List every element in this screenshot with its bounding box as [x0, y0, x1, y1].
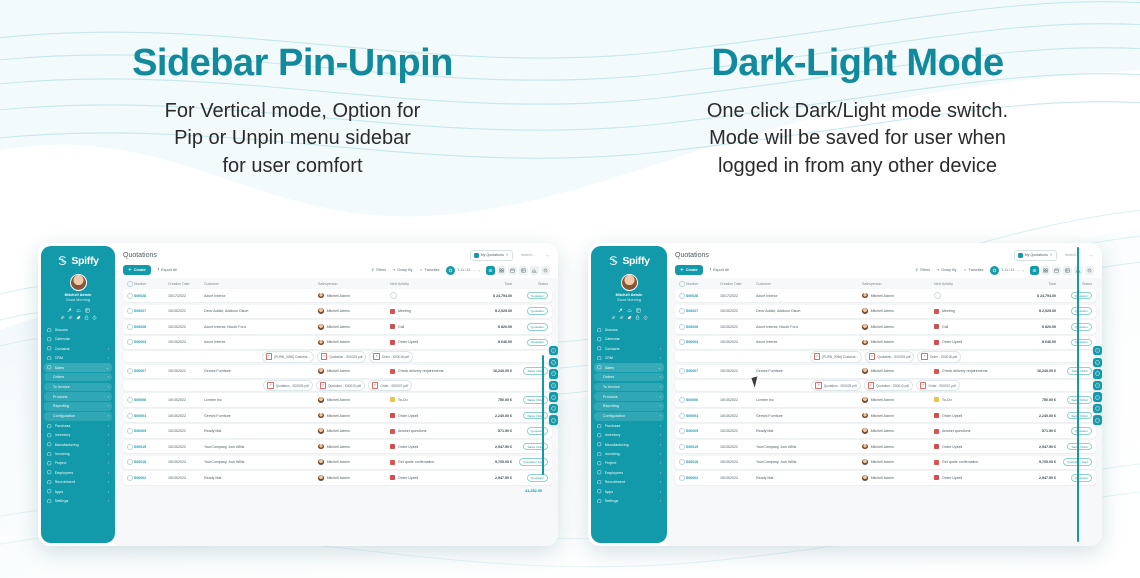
salesperson-name: Mitchell Admin — [871, 294, 894, 298]
checkbox-ring — [679, 308, 685, 314]
chevron-right-icon: › — [660, 490, 661, 494]
link-icon[interactable] — [60, 315, 65, 320]
chevron-right-icon: › — [660, 433, 661, 437]
sidebar-item-calendar[interactable]: Calendar — [44, 335, 112, 344]
calendar-view-icon[interactable] — [508, 266, 517, 275]
confirm-icon — [934, 460, 939, 465]
next-page-icon[interactable]: › — [478, 268, 481, 273]
sidebar-item-orders[interactable]: Orders› — [44, 373, 112, 382]
search-facet-my-quotations[interactable]: My Quotations ✕ — [470, 250, 513, 261]
cell-next-activity[interactable]: Check delivery requirements — [934, 369, 1012, 374]
prev-page-icon[interactable]: ‹ — [1016, 268, 1019, 273]
expand-rail-icon[interactable] — [549, 369, 558, 378]
sidebar-item-project[interactable]: Project› — [594, 459, 664, 468]
activity-label: Answer questions — [398, 429, 426, 433]
favorites-button[interactable]: ☆Favorites — [961, 268, 985, 272]
table-header-left: NumberCreation DateCustomerSalespersonNe… — [123, 278, 552, 289]
checkbox-ring — [679, 428, 685, 434]
cell-next-activity[interactable]: Order Upsell — [390, 413, 468, 418]
sidebar-item-discuss[interactable]: Discuss — [44, 325, 112, 334]
link-alt-icon[interactable] — [68, 315, 73, 320]
expand-rail-icon[interactable] — [1093, 369, 1102, 378]
cell-creation-date: 15/15/2022 — [168, 476, 204, 480]
close-icon[interactable]: ✕ — [1050, 253, 1053, 257]
cell-next-activity[interactable]: Order Upsell — [934, 444, 1012, 449]
table-row[interactable]: S0000315/15/2022Azure InteriorMitchell A… — [123, 336, 552, 349]
pdf-icon: P — [868, 382, 874, 389]
chevron-right-icon: › — [660, 471, 661, 475]
avatar — [318, 428, 324, 434]
cell-salesperson: Mitchell Admin — [862, 368, 934, 374]
table-row[interactable]: S0000515/15/2022Ready MatMitchell AdminA… — [123, 424, 552, 437]
sidebar-item-invoicing[interactable]: Invoicing› — [594, 449, 664, 458]
power-icon[interactable] — [643, 315, 648, 320]
cell-salesperson: Mitchell Admin — [318, 293, 390, 299]
export-all-button[interactable]: ⭳ Export All — [155, 267, 180, 273]
right-rail-right-panel — [1093, 346, 1102, 425]
attachment-label: Order - S00007.pdf — [380, 384, 407, 388]
pivot-view-icon[interactable] — [1063, 266, 1072, 275]
activity-label: Call — [942, 325, 948, 329]
avatar[interactable] — [70, 274, 87, 291]
chart-rail-icon[interactable] — [1093, 415, 1102, 424]
cell-total: 2,947.50 € — [468, 445, 512, 449]
table-row[interactable]: S0001815/15/2022YourCompany, Joel Willis… — [675, 456, 1096, 469]
sidebar-item-configuration[interactable]: Configuration› — [44, 412, 112, 421]
table-row[interactable]: S0000515/15/2022Ready MatMitchell AdminA… — [675, 424, 1096, 437]
sidebar-item-employees[interactable]: Employees› — [44, 468, 112, 477]
sidebar-item-to-invoice[interactable]: To Invoice› — [594, 383, 664, 392]
activity-label: Check delivery requirements — [942, 369, 988, 373]
cell-creation-date: 15/15/2022 — [168, 340, 204, 344]
column-header-total[interactable]: Total — [468, 282, 512, 286]
table-row[interactable]: S0000615/15/2022Lumber IncMitchell Admin… — [675, 393, 1096, 406]
grid-icon[interactable] — [636, 308, 641, 313]
salesperson-name: Mitchell Admin — [327, 414, 350, 418]
attachment-chip[interactable]: PQuotation - S00025.pdf — [811, 380, 860, 391]
create-button[interactable]: ＋ Create — [675, 265, 703, 275]
table-row[interactable]: S0000715/15/2022Gemini FurnitureMitchell… — [123, 365, 552, 378]
list-view-icon[interactable] — [1030, 266, 1039, 275]
cell-status: Quotation — [512, 323, 548, 331]
calendar-rail-icon[interactable] — [549, 392, 558, 401]
wrench-icon[interactable] — [67, 308, 72, 313]
row-checkbox[interactable] — [679, 459, 686, 465]
graph-view-icon[interactable] — [530, 266, 539, 275]
sidebar-item-contacts[interactable]: Contacts› — [594, 344, 664, 353]
table-row[interactable]: S0000715/15/2022Gemini FurnitureMitchell… — [675, 365, 1096, 378]
chevron-right-icon: › — [108, 414, 109, 418]
cell-next-activity[interactable]: To-Do — [390, 397, 468, 402]
table-row[interactable]: S0002615/15/2022Azure Interior, Nicole F… — [675, 320, 1096, 333]
search-area[interactable]: My Quotations ✕ Search... — [470, 250, 550, 261]
leaf-icon[interactable] — [627, 315, 632, 320]
column-header-status[interactable]: Status — [1056, 282, 1092, 286]
upsell-icon — [390, 413, 395, 418]
pdf-icon: P — [815, 382, 821, 389]
attachment-chip[interactable]: PQuotation - S00010.pdf — [864, 380, 913, 391]
cell-number: S00005 — [686, 429, 720, 433]
attachment-chip[interactable]: POrder - S00007.pdf — [368, 380, 412, 391]
cell-next-activity[interactable] — [390, 292, 468, 299]
list-rail-icon[interactable] — [549, 404, 558, 413]
list-rail-icon[interactable] — [1093, 404, 1102, 413]
sidebar-item-products[interactable]: Products› — [594, 392, 664, 401]
sidebar-item-settings[interactable]: Settings› — [594, 496, 664, 505]
row-checkbox[interactable] — [679, 308, 686, 314]
home-rail-icon[interactable] — [549, 358, 558, 367]
cell-number: S00026 — [134, 325, 168, 329]
sidebar-item-recruitment[interactable]: Recruitment› — [44, 477, 112, 486]
row-checkbox[interactable] — [127, 293, 134, 299]
cell-creation-date: 15/15/2022 — [720, 429, 756, 433]
breadcrumb: Quotations — [123, 252, 157, 259]
column-header-total[interactable]: Total — [1012, 282, 1056, 286]
kanban-view-icon[interactable] — [497, 266, 506, 275]
sidebar-item-apps[interactable]: Apps› — [44, 487, 112, 496]
table-row[interactable]: S0001815/15/2022YourCompany, Joel Willis… — [123, 456, 552, 469]
brand-name: Spiffy — [71, 255, 98, 267]
cell-creation-date: 15/15/2022 — [720, 325, 756, 329]
sidebar-item-crm[interactable]: CRM› — [594, 353, 664, 362]
cell-salesperson: Mitchell Admin — [862, 475, 934, 481]
checkbox-ring — [679, 444, 685, 450]
lock-icon[interactable] — [84, 315, 89, 320]
crm-icon — [47, 356, 52, 361]
row-checkbox[interactable] — [127, 308, 134, 314]
sidebar-item-invoicing[interactable]: Invoicing› — [44, 449, 112, 458]
inventory-icon — [47, 433, 52, 438]
attachment-chip[interactable]: POrder - S00018.pdf — [917, 351, 961, 362]
cell-next-activity[interactable]: Order Upsell — [934, 475, 1012, 480]
chevron-right-icon: › — [108, 433, 109, 437]
print-rail-icon[interactable] — [1093, 381, 1102, 390]
column-header-number[interactable]: Number — [686, 282, 720, 286]
sidebar-item-employees[interactable]: Employees› — [594, 468, 664, 477]
activity-view-icon[interactable] — [1085, 266, 1094, 275]
cell-next-activity[interactable]: Order Upsell — [934, 413, 1012, 418]
cell-salesperson: Mitchell Admin — [318, 324, 390, 330]
sidebar-item-purchase[interactable]: Purchase› — [594, 421, 664, 430]
sidebar-item-discuss[interactable]: Discuss — [594, 325, 664, 334]
funnel-icon: ⚲ — [372, 268, 375, 272]
cell-next-activity[interactable]: Answer questions — [934, 429, 1012, 434]
attachment-chip[interactable]: PQuotation - S00025.pdf — [263, 380, 312, 391]
avatar — [318, 340, 324, 346]
table-row[interactable]: S0001915/15/2022YourCompany, Joel Willis… — [675, 440, 1096, 453]
row-checkbox[interactable] — [679, 324, 686, 330]
sidebar-item-manufacturing[interactable]: Manufacturing› — [594, 440, 664, 449]
group-by-label: Group By — [397, 268, 412, 272]
pager[interactable]: 1-11 / 11 ‹ › — [446, 266, 481, 275]
employees-icon — [47, 470, 52, 475]
sidebar-item-label: Settings — [55, 499, 105, 503]
view-switcher[interactable] — [486, 266, 550, 275]
row-checkbox[interactable] — [679, 293, 686, 299]
attachment-chip[interactable]: PQuotation - S00025.pdf — [317, 351, 366, 362]
cell-next-activity[interactable]: Call — [390, 324, 468, 329]
link-icon[interactable] — [611, 315, 616, 320]
cell-total: 2,947.50 € — [1012, 445, 1056, 449]
cell-total: 2,947.50 € — [1012, 476, 1056, 480]
cell-next-activity[interactable]: To-Do — [934, 397, 1012, 402]
sidebar-item-label: Discuss — [55, 328, 109, 332]
row-checkbox[interactable] — [127, 428, 134, 434]
refresh-icon[interactable] — [446, 266, 455, 275]
sidebar-item-inventory[interactable]: Inventory› — [594, 431, 664, 440]
cloud-icon[interactable] — [627, 308, 632, 313]
cloud-icon[interactable] — [76, 308, 81, 313]
brand-logo[interactable]: Spiffy — [591, 252, 667, 269]
sidebar-item-project[interactable]: Project› — [44, 459, 112, 468]
sidebar-item-manufacturing[interactable]: Manufacturing› — [44, 440, 112, 449]
pager[interactable]: 1-11 / 11 ‹ › — [990, 266, 1025, 275]
search-area[interactable]: My Quotations ✕ Search... — [1014, 250, 1094, 261]
avatar[interactable] — [621, 274, 638, 291]
column-header-creation-date[interactable]: Creation Date — [720, 282, 756, 286]
attachment-chip[interactable]: PQuotation - S00010.pdf — [316, 380, 365, 391]
pivot-view-icon[interactable] — [519, 266, 528, 275]
row-checkbox[interactable] — [679, 428, 686, 434]
calendar-view-icon[interactable] — [1052, 266, 1061, 275]
project-icon — [597, 461, 602, 466]
cell-next-activity[interactable] — [934, 292, 1012, 299]
refresh-icon[interactable] — [990, 266, 999, 275]
export-icon: ⭳ — [710, 267, 711, 273]
prev-page-icon[interactable]: ‹ — [472, 268, 475, 273]
cell-status: Sales Order — [1056, 396, 1092, 404]
page-subtitle-right: One click Dark/Light mode switch. Mode w… — [707, 98, 1008, 181]
status-badge: Sales Order — [523, 367, 548, 375]
grid-icon[interactable] — [85, 308, 90, 313]
row-checkbox[interactable] — [679, 475, 686, 481]
search-facet-my-quotations[interactable]: My Quotations ✕ — [1014, 250, 1057, 261]
cell-next-activity[interactable]: Order Upsell — [390, 444, 468, 449]
view-switcher[interactable] — [1030, 266, 1094, 275]
power-icon[interactable] — [92, 315, 97, 320]
column-header-number[interactable]: Number — [134, 282, 168, 286]
attachment-chip[interactable]: POrder - S00007.pdf — [916, 380, 960, 391]
filters-label: Filters — [920, 268, 930, 272]
group-by-button[interactable]: ≡Group By — [935, 268, 958, 272]
row-checkbox[interactable] — [127, 475, 134, 481]
checkbox-ring — [127, 459, 133, 465]
activity-view-icon[interactable] — [541, 266, 550, 275]
attachment-chip[interactable]: P[PURN_0096] Customs... — [810, 351, 862, 362]
gear-icon[interactable] — [545, 253, 550, 258]
contacts-icon — [597, 346, 602, 351]
cell-next-activity[interactable]: Call — [934, 324, 1012, 329]
row-checkbox[interactable] — [679, 339, 686, 345]
column-header-status[interactable]: Status — [512, 282, 548, 286]
row-checkbox[interactable] — [127, 368, 134, 374]
sidebar-item-crm[interactable]: CRM› — [44, 353, 112, 362]
cell-salesperson: Mitchell Admin — [318, 368, 390, 374]
table-row[interactable]: S0002615/15/2022Azure Interior, Nicole F… — [123, 320, 552, 333]
cell-next-activity[interactable]: Get quote confirmation — [934, 460, 1012, 465]
cell-next-activity[interactable]: Order Upsell — [934, 340, 1012, 345]
sidebar-item-recruitment[interactable]: Recruitment› — [594, 477, 664, 486]
select-all-checkbox[interactable] — [679, 281, 686, 287]
status-badge: Sales Order — [1067, 443, 1092, 451]
favorites-button[interactable]: ☆Favorites — [417, 268, 441, 272]
sidebar-item-purchase[interactable]: Purchase› — [44, 421, 112, 430]
sidebar-item-settings[interactable]: Settings› — [44, 496, 112, 505]
activity-label: Order Upsell — [398, 414, 418, 418]
next-page-icon[interactable]: › — [1022, 268, 1025, 273]
filters-button[interactable]: ⚲Filters — [370, 268, 388, 272]
leaf-icon[interactable] — [76, 315, 81, 320]
row-checkbox[interactable] — [679, 413, 686, 419]
salesperson-name: Mitchell Admin — [871, 476, 894, 480]
list-view-icon[interactable] — [486, 266, 495, 275]
table-row[interactable]: S0000415/15/2022Gemini FurnitureMitchell… — [123, 409, 552, 422]
sidebar-item-label: Inventory — [605, 433, 657, 437]
table-row[interactable]: S0001915/15/2022YourCompany, Joel Willis… — [123, 440, 552, 453]
row-checkbox[interactable] — [127, 413, 134, 419]
cell-number: S00028 — [686, 294, 720, 298]
column-header-customer[interactable]: Customer — [756, 282, 862, 286]
table-header-right: NumberCreation DateCustomerSalespersonNe… — [675, 278, 1096, 289]
create-button[interactable]: ＋ Create — [123, 265, 151, 275]
activity-label: Answer questions — [942, 429, 970, 433]
print-rail-icon[interactable] — [549, 381, 558, 390]
settings-rail-icon[interactable] — [1093, 346, 1102, 355]
apps-icon — [47, 489, 52, 494]
call-icon — [390, 324, 395, 329]
upsell-icon — [390, 340, 395, 345]
cell-creation-date: 15/15/2022 — [168, 309, 204, 313]
group-by-button[interactable]: ≡Group By — [391, 268, 414, 272]
filters-label: Filters — [376, 268, 386, 272]
salesperson-name: Mitchell Admin — [871, 398, 894, 402]
inventory-icon — [597, 433, 602, 438]
chart-rail-icon[interactable] — [549, 415, 558, 424]
pdf-icon: P — [921, 353, 927, 360]
column-header-salesperson[interactable]: Salesperson — [862, 282, 934, 286]
search-input[interactable]: Search... — [521, 253, 535, 257]
table-row[interactable]: S0002815/17/2022Azure InteriorMitchell A… — [123, 289, 552, 302]
sidebar-item-inventory[interactable]: Inventory› — [44, 431, 112, 440]
sidebar-item-reporting[interactable]: Reporting› — [44, 402, 112, 411]
sidebar-item-to-invoice[interactable]: To Invoice› — [44, 383, 112, 392]
cell-customer: Deco Addict, Addison Olson — [756, 309, 862, 313]
gear-icon — [597, 499, 602, 504]
table-row[interactable]: S0000215/15/2022Ready MatMitchell AdminO… — [123, 471, 552, 484]
cell-total: 9,705.00 € — [1012, 460, 1056, 464]
avatar — [318, 444, 324, 450]
sidebar-item-label: Purchase — [605, 424, 657, 428]
attachment-chip[interactable]: POrder - S00018.pdf — [369, 351, 413, 362]
table-row[interactable]: S0000415/15/2022Gemini FurnitureMitchell… — [675, 409, 1096, 422]
sidebar-item-products[interactable]: Products› — [44, 392, 112, 401]
upsell-icon — [934, 340, 939, 345]
brand-logo[interactable]: Spiffy — [41, 252, 115, 269]
row-checkbox[interactable] — [127, 397, 134, 403]
table-row[interactable]: S0002715/15/2022Deco Addict, Addison Ols… — [675, 305, 1096, 318]
status-badge: Sales Order — [1067, 396, 1092, 404]
export-label: Export All — [161, 268, 177, 272]
cell-next-activity[interactable]: Meeting — [390, 309, 468, 314]
attachment-label: Order - S00018.pdf — [382, 355, 409, 359]
cell-status: Quotation — [1056, 307, 1092, 315]
column-header-customer[interactable]: Customer — [204, 282, 318, 286]
sidebar-item-configuration[interactable]: Configuration› — [594, 412, 664, 421]
cell-total: $ 2,025.00 — [1012, 309, 1056, 313]
row-checkbox[interactable] — [127, 444, 134, 450]
table-row[interactable]: S0002815/17/2022Azure InteriorMitchell A… — [675, 289, 1096, 302]
avatar — [862, 368, 868, 374]
sidebar-item-sales[interactable]: Sales⌄ — [594, 363, 664, 372]
lock-icon[interactable] — [635, 315, 640, 320]
activity-label: Meeting — [942, 309, 955, 313]
table-row[interactable]: S0000315/15/2022Azure InteriorMitchell A… — [675, 336, 1096, 349]
cell-next-activity[interactable]: Check delivery requirements — [390, 369, 468, 374]
status-badge: Quotation — [527, 292, 548, 300]
sidebar-item-sales[interactable]: Sales⌄ — [44, 363, 112, 372]
table-row[interactable]: S0000615/15/2022Lumber IncMitchell Admin… — [123, 393, 552, 406]
filters-button[interactable]: ⚲Filters — [914, 268, 932, 272]
gear-icon[interactable] — [1089, 253, 1094, 258]
cell-total: $ 646.00 — [468, 340, 512, 344]
salesperson-name: Mitchell Admin — [871, 325, 894, 329]
chevron-right-icon: › — [660, 404, 661, 408]
sidebar-item-orders[interactable]: Orders› — [594, 373, 664, 382]
table-row[interactable]: S0000215/15/2022Ready MatMitchell AdminO… — [675, 471, 1096, 484]
cell-next-activity[interactable]: Meeting — [934, 309, 1012, 314]
cell-next-activity[interactable]: Answer questions — [390, 429, 468, 434]
row-checkbox[interactable] — [679, 368, 686, 374]
close-icon[interactable]: ✕ — [506, 253, 509, 257]
home-rail-icon[interactable] — [1093, 358, 1102, 367]
export-all-button[interactable]: ⭳ Export All — [707, 267, 732, 273]
column-header-salesperson[interactable]: Salesperson — [318, 282, 390, 286]
cell-next-activity[interactable]: Order Upsell — [390, 340, 468, 345]
kanban-view-icon[interactable] — [1041, 266, 1050, 275]
column-header-next-activity[interactable]: Next Activity — [934, 282, 1012, 286]
sidebar-item-apps[interactable]: Apps› — [594, 487, 664, 496]
cell-creation-date: 15/15/2022 — [720, 340, 756, 344]
pdf-icon: P — [372, 382, 378, 389]
user-info: Mitchell Admin Good Morning — [41, 293, 115, 304]
row-checkbox[interactable] — [127, 459, 134, 465]
calendar-rail-icon[interactable] — [1093, 392, 1102, 401]
cell-next-activity[interactable]: Order Upsell — [390, 475, 468, 480]
cell-next-activity[interactable]: Get quote confirmation — [390, 460, 468, 465]
link-alt-icon[interactable] — [619, 315, 624, 320]
sidebar-item-label: Contacts — [55, 347, 105, 351]
cell-salesperson: Mitchell Admin — [318, 340, 390, 346]
attachment-chip[interactable]: P[PURN_0096] Customs... — [262, 351, 314, 362]
status-badge: Quotation — [527, 307, 548, 315]
row-checkbox[interactable] — [127, 339, 134, 345]
attachment-chip[interactable]: PQuotation - S00025.pdf — [865, 351, 914, 362]
sidebar-item-label: Inventory — [55, 433, 105, 437]
select-all-checkbox[interactable] — [127, 281, 134, 287]
row-checkbox[interactable] — [679, 397, 686, 403]
sidebar-item-calendar[interactable]: Calendar — [594, 335, 664, 344]
sidebar-item-contacts[interactable]: Contacts› — [44, 344, 112, 353]
wrench-icon[interactable] — [618, 308, 623, 313]
settings-rail-icon[interactable] — [549, 346, 558, 355]
column-header-next-activity[interactable]: Next Activity — [390, 282, 468, 286]
sidebar-item-reporting[interactable]: Reporting› — [594, 402, 664, 411]
table-row[interactable]: S0002715/15/2022Deco Addict, Addison Ols… — [123, 305, 552, 318]
row-checkbox[interactable] — [679, 444, 686, 450]
row-checkbox[interactable] — [127, 324, 134, 330]
column-header-creation-date[interactable]: Creation Date — [168, 282, 204, 286]
app-screenshot-right: Spiffy Mitchell Admin Good Morning — [588, 243, 1102, 546]
